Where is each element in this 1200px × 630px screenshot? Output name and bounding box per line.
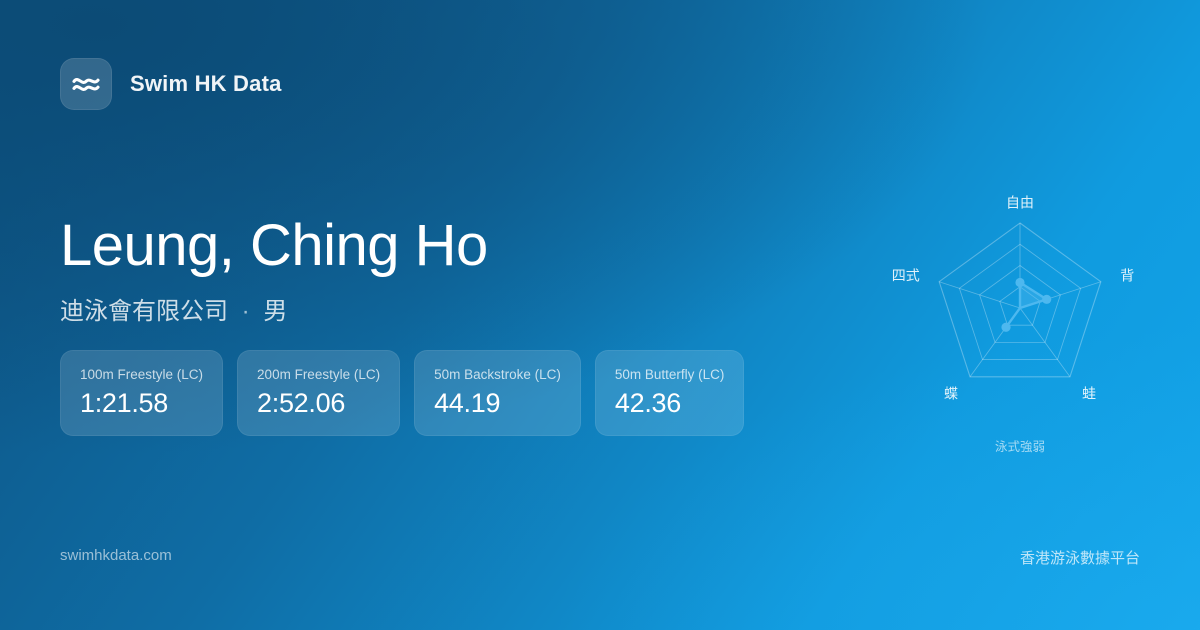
radar-data-point xyxy=(1042,295,1051,304)
share-card-canvas: Swim HK Data Leung, Ching Ho 迪泳會有限公司 · 男… xyxy=(0,0,1200,630)
athlete-meta: 迪泳會有限公司 · 男 xyxy=(60,291,488,326)
stat-card[interactable]: 50m Backstroke (LC) 44.19 xyxy=(414,350,581,436)
radar-spoke xyxy=(939,282,1020,308)
stat-card-label: 100m Freestyle (LC) xyxy=(80,367,203,382)
stat-card-value: 44.19 xyxy=(434,389,561,418)
stat-card[interactable]: 50m Butterfly (LC) 42.36 xyxy=(595,350,745,436)
page-title: Leung, Ching Ho xyxy=(60,216,488,277)
stat-card[interactable]: 200m Freestyle (LC) 2:52.06 xyxy=(237,350,400,436)
stat-card-value: 2:52.06 xyxy=(257,389,380,418)
brand-header[interactable]: Swim HK Data xyxy=(60,58,282,110)
footer-site-url: swimhkdata.com xyxy=(60,547,172,564)
stat-card-label: 50m Butterfly (LC) xyxy=(615,367,725,382)
radar-axis-label: 四式 xyxy=(892,267,920,283)
radar-caption: 泳式強弱 xyxy=(995,440,1045,454)
stat-card[interactable]: 100m Freestyle (LC) 1:21.58 xyxy=(60,350,223,436)
radar-axis-labels: 自由背蛙蝶四式 xyxy=(892,195,1134,402)
radar-axis-label: 蝶 xyxy=(944,385,958,401)
athlete-club: 迪泳會有限公司 xyxy=(60,298,228,325)
stat-card-value: 42.36 xyxy=(615,389,725,418)
radar-data-point xyxy=(1001,323,1010,332)
meta-separator: · xyxy=(235,298,257,325)
radar-data-point xyxy=(1015,278,1024,287)
stat-card-value: 1:21.58 xyxy=(80,389,203,418)
athlete-hero: Leung, Ching Ho 迪泳會有限公司 · 男 xyxy=(60,216,488,326)
stroke-strength-radar-chart: 自由背蛙蝶四式 泳式強弱 xyxy=(870,165,1170,475)
footer-tagline: 香港游泳數據平台 xyxy=(1020,547,1140,568)
radar-axis-label: 自由 xyxy=(1006,195,1034,211)
radar-data-area xyxy=(1006,283,1047,328)
athlete-gender: 男 xyxy=(263,298,287,325)
brand-name: Swim HK Data xyxy=(130,71,282,97)
wave-approx-icon xyxy=(60,58,112,110)
stat-card-label: 50m Backstroke (LC) xyxy=(434,367,561,382)
stat-card-label: 200m Freestyle (LC) xyxy=(257,367,380,382)
radar-axis-label: 蛙 xyxy=(1082,385,1096,401)
radar-axis-label: 背 xyxy=(1120,267,1134,283)
stat-card-list: 100m Freestyle (LC) 1:21.58 200m Freesty… xyxy=(60,350,744,436)
